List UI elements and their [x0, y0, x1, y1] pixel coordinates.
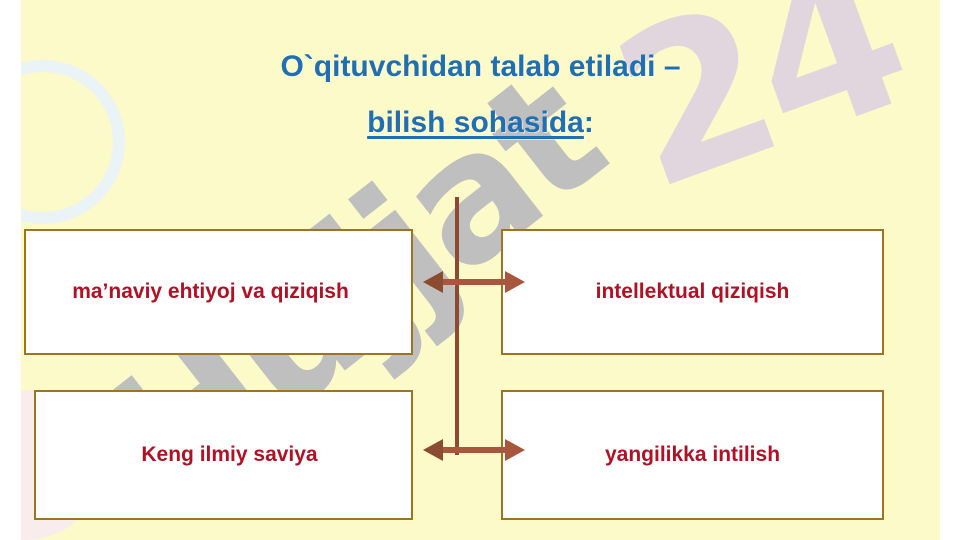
title-line-2: bilish sohasida:: [21, 108, 940, 138]
concept-box-top-left[interactable]: ma’naviy ehtiyoj va qiziqish: [24, 229, 413, 355]
vertical-spine-line: [455, 197, 459, 455]
concept-box-bottom-left-label: Keng ilmiy saviya: [127, 443, 331, 467]
concept-box-top-left-label: ma’naviy ehtiyoj va qiziqish: [58, 280, 363, 304]
title-line-1: O`qituvchidan talab etiladi –: [21, 52, 940, 82]
slide-root: 24 Hujjat O`qituvchidan talab etiladi – …: [0, 0, 961, 540]
page-title: O`qituvchidan talab etiladi – bilish soh…: [21, 52, 940, 138]
title-line-2-underlined: bilish sohasida: [367, 106, 584, 139]
concept-box-top-right[interactable]: intellektual qiziqish: [501, 229, 884, 355]
concept-box-bottom-left[interactable]: Keng ilmiy saviya: [34, 390, 413, 520]
concept-box-bottom-right-label: yangilikka intilish: [591, 443, 794, 467]
concept-box-top-right-label: intellektual qiziqish: [582, 280, 804, 304]
title-line-2-colon: :: [584, 106, 594, 139]
concept-box-bottom-right[interactable]: yangilikka intilish: [501, 390, 884, 520]
slide-canvas: 24 Hujjat O`qituvchidan talab etiladi – …: [21, 0, 940, 540]
